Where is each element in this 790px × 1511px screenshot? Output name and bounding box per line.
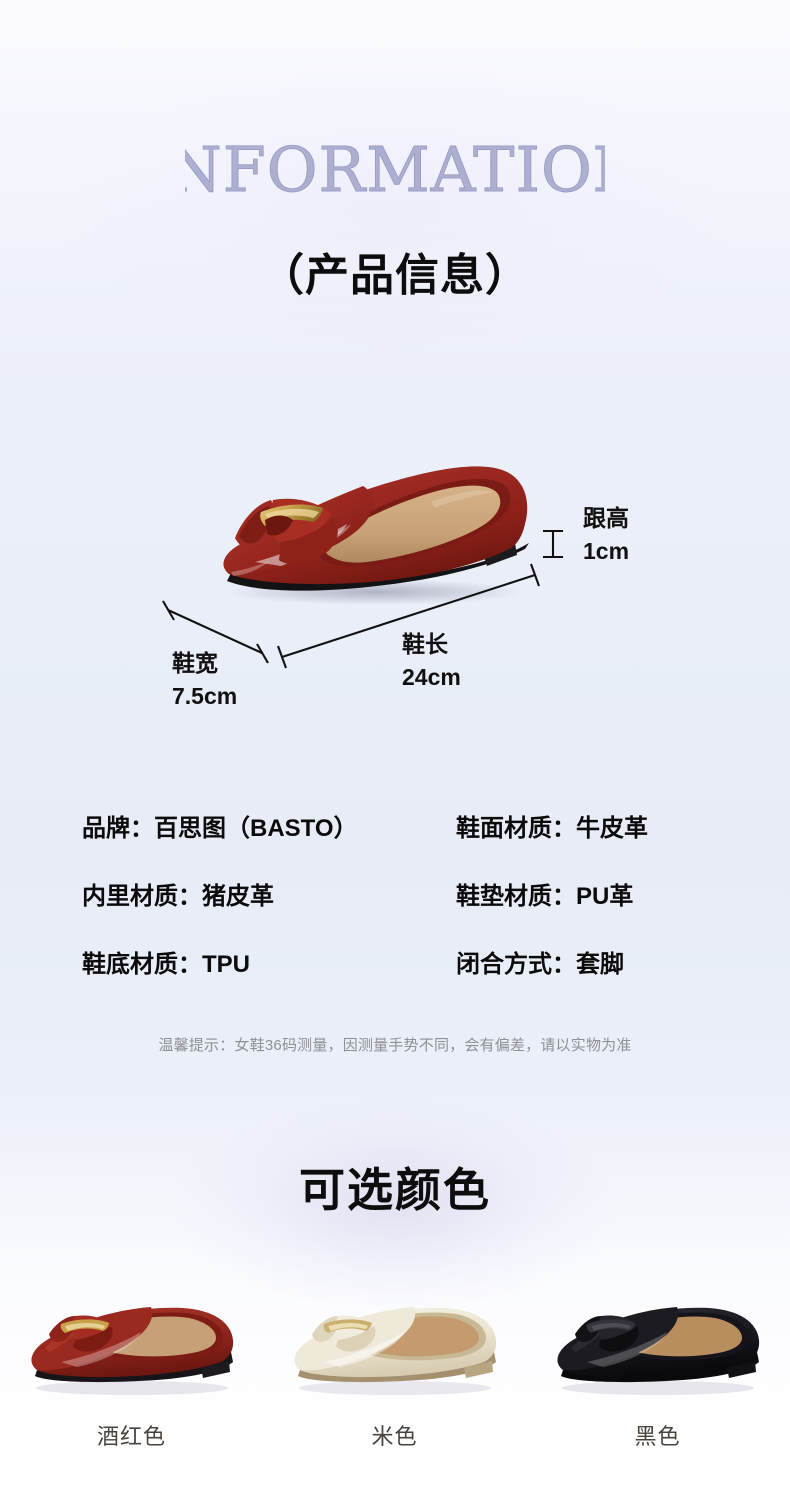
shoe-length-value: 24cm xyxy=(402,662,461,692)
color-options-list: 酒红色 xyxy=(0,1292,790,1452)
shoe-width-label: 鞋宽 xyxy=(172,648,218,678)
color-option-beige[interactable]: 米色 xyxy=(263,1292,526,1452)
top-glow xyxy=(50,60,740,360)
measurement-disclaimer: 温馨提示：女鞋36码测量，因测量手势不同，会有偏差，请以实物为准 xyxy=(0,1035,790,1057)
product-information-page: INFORMATION INFORMATION （产品信息） xyxy=(0,0,790,1511)
spec-brand: 品牌：百思图（BASTO） xyxy=(82,812,456,846)
heel-height-value: 1cm xyxy=(583,536,629,566)
shoe-side-view-beige xyxy=(280,1292,510,1400)
spec-upper-material: 鞋面材质：牛皮革 xyxy=(456,812,722,846)
page-title-english: INFORMATION INFORMATION xyxy=(0,131,790,209)
shoe-side-view-black xyxy=(543,1292,773,1400)
shoe-length-label: 鞋长 xyxy=(402,629,448,659)
spec-outsole-material: 鞋底材质：TPU xyxy=(82,948,456,982)
specification-grid: 品牌：百思图（BASTO） 鞋面材质：牛皮革 内里材质：猪皮革 鞋垫材质：PU革… xyxy=(82,812,722,1016)
spec-row: 内里材质：猪皮革 鞋垫材质：PU革 xyxy=(82,880,722,948)
color-option-wine-red[interactable]: 酒红色 xyxy=(0,1292,263,1452)
information-wordmark: INFORMATION INFORMATION xyxy=(185,131,605,209)
heel-height-label: 跟高 xyxy=(583,503,629,533)
page-title-chinese: （产品信息） xyxy=(0,245,790,307)
spec-lining-material: 内里材质：猪皮革 xyxy=(82,880,456,914)
shoe-side-view-wine-red xyxy=(17,1292,247,1400)
color-option-black[interactable]: 黑色 xyxy=(526,1292,789,1452)
product-image-stage xyxy=(0,430,790,730)
spec-row: 鞋底材质：TPU 闭合方式：套脚 xyxy=(82,948,722,1016)
spec-closure-type: 闭合方式：套脚 xyxy=(456,948,722,982)
colors-section-title: 可选颜色 xyxy=(0,1158,790,1222)
svg-text:INFORMATION: INFORMATION xyxy=(185,133,605,206)
shoe-width-value: 7.5cm xyxy=(172,681,237,711)
color-option-label: 黑色 xyxy=(634,1422,680,1452)
product-photo-wine-flat xyxy=(195,442,555,612)
color-option-label: 米色 xyxy=(371,1422,417,1452)
spec-insole-material: 鞋垫材质：PU革 xyxy=(456,880,722,914)
spec-row: 品牌：百思图（BASTO） 鞋面材质：牛皮革 xyxy=(82,812,722,880)
dimension-annotations xyxy=(0,0,790,1511)
color-option-label: 酒红色 xyxy=(97,1422,166,1452)
